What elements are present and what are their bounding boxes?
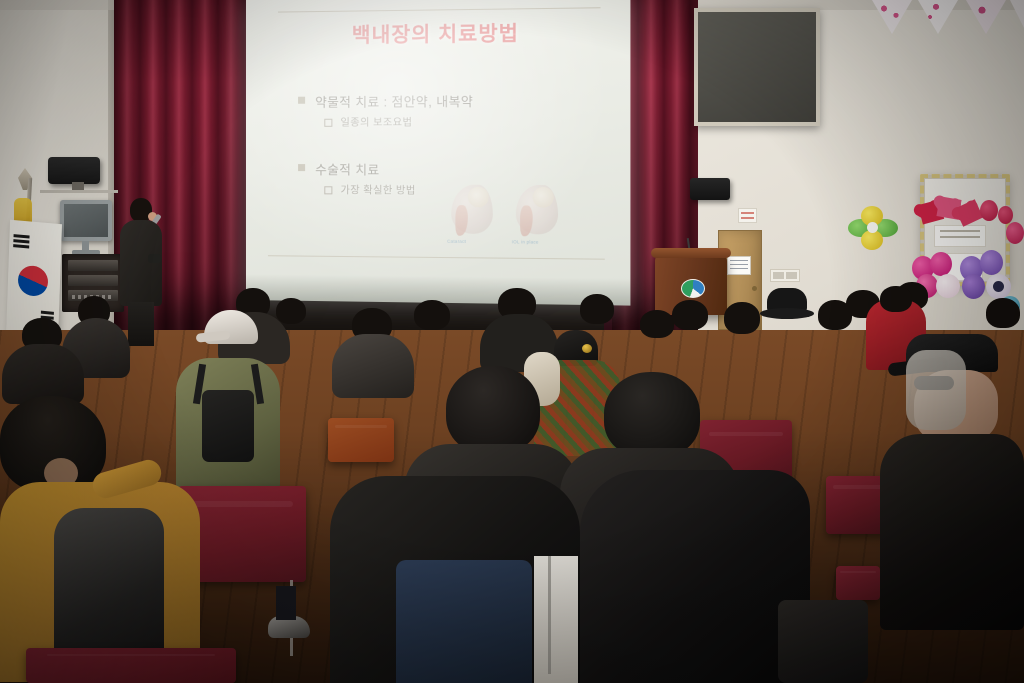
chair-leg xyxy=(548,556,551,674)
chair[interactable] xyxy=(836,566,880,600)
attendee-foreground-right xyxy=(580,470,810,683)
balloon-edge xyxy=(1006,222,1024,244)
attendee-black-fedora xyxy=(760,288,814,322)
chair[interactable] xyxy=(26,648,236,683)
presenter-hand xyxy=(148,254,161,263)
attendee-light-collar xyxy=(906,350,966,430)
paper-sign xyxy=(534,556,578,683)
vest-panel xyxy=(54,508,164,668)
bag-on-floor xyxy=(778,600,868,683)
attendee-mustard-puffer xyxy=(0,396,262,683)
wall-shelf-edge xyxy=(40,190,118,193)
door-notice-sign xyxy=(727,256,751,275)
chalkboard xyxy=(694,8,820,126)
wall-speaker-right xyxy=(690,178,730,200)
pennant-flag xyxy=(1010,0,1024,34)
pennant-flag xyxy=(918,0,958,34)
brooch-icon xyxy=(582,344,592,353)
light-switch-panel[interactable] xyxy=(770,269,800,282)
pennant-flag xyxy=(872,0,912,34)
purple-balloon-cluster xyxy=(960,250,1014,300)
heart-balloon-cluster xyxy=(918,196,1014,232)
monitor xyxy=(60,200,112,241)
door-knob[interactable] xyxy=(752,286,757,291)
wall-speaker-left xyxy=(48,157,100,184)
presenter xyxy=(118,198,178,348)
lecture-hall-photo: 백내장의 치료방법 약물적 치료 : 점안약, 내복약 일종의 보조요법 수술적… xyxy=(0,0,1024,683)
taeguk-symbol xyxy=(18,265,49,298)
pennant-bunting xyxy=(862,0,1024,40)
chair-back-blue[interactable] xyxy=(396,560,532,683)
pennant-flag xyxy=(966,0,1006,34)
podium-emblem-icon xyxy=(681,279,705,298)
projection-screen: 백내장의 치료방법 약물적 치료 : 점안약, 내복약 일종의 보조요법 수술적… xyxy=(246,0,630,306)
presentation-slide: 백내장의 치료방법 약물적 치료 : 점안약, 내복약 일종의 보조요법 수술적… xyxy=(246,0,630,306)
orange-tote-bag xyxy=(328,418,394,462)
balloon-flower xyxy=(848,206,900,254)
wall-notice-small xyxy=(738,208,757,223)
leg xyxy=(276,586,296,620)
